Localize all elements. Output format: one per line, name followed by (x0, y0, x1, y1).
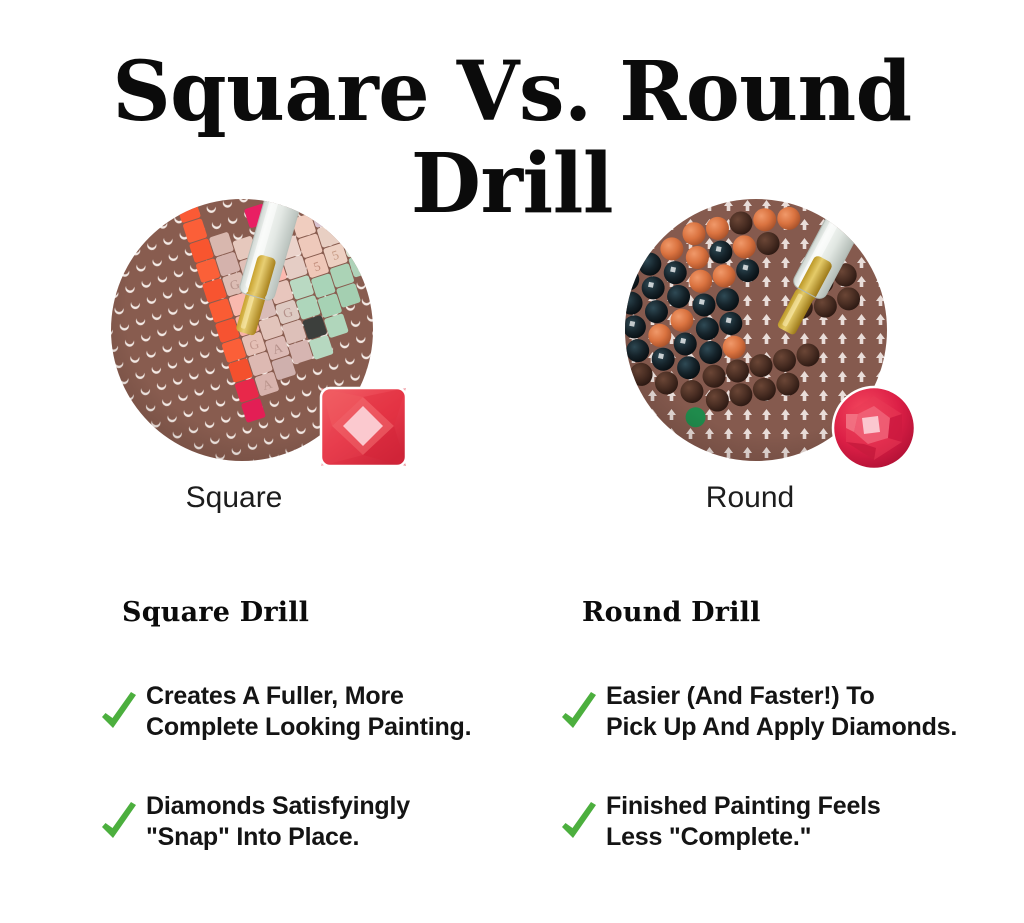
square-drill-photo-wrap: G G A R (110, 196, 410, 472)
caption-round: Round (494, 479, 1006, 517)
round-drill-photo-wrap: E F (624, 196, 924, 472)
square-gem (321, 388, 406, 466)
caption-square: Square (0, 479, 490, 517)
panel-round: E F (512, 196, 1024, 546)
benefit-item: Diamonds Satisfyingly "Snap" Into Place. (100, 788, 570, 856)
comparison-panels: G G A R (0, 196, 1024, 546)
benefit-item: Easier (And Faster!) To Pick Up And Appl… (560, 678, 1024, 746)
check-icon (560, 692, 598, 736)
check-icon (100, 692, 138, 736)
round-drill-photo: E F (624, 196, 924, 472)
round-gem (833, 387, 915, 469)
heading-square-drill: Square Drill (122, 596, 570, 630)
benefits-column-square: Square Drill Creates A Fuller, More Comp… (100, 596, 570, 898)
heading-round-drill: Round Drill (582, 596, 1024, 630)
benefit-text: Diamonds Satisfyingly "Snap" Into Place. (146, 791, 410, 853)
check-icon (100, 802, 138, 846)
square-drill-photo: G G A R (110, 196, 410, 472)
benefits-column-round: Round Drill Easier (And Faster!) To Pick… (560, 596, 1024, 898)
check-icon (560, 802, 598, 846)
benefit-text: Finished Painting Feels Less "Complete." (606, 791, 881, 853)
benefit-item: Creates A Fuller, More Complete Looking … (100, 678, 570, 746)
benefit-item: Finished Painting Feels Less "Complete." (560, 788, 1024, 856)
benefit-text: Easier (And Faster!) To Pick Up And Appl… (606, 681, 957, 743)
benefits-section: Square Drill Creates A Fuller, More Comp… (0, 596, 1024, 896)
panel-square: G G A R (0, 196, 512, 546)
benefit-text: Creates A Fuller, More Complete Looking … (146, 681, 471, 743)
